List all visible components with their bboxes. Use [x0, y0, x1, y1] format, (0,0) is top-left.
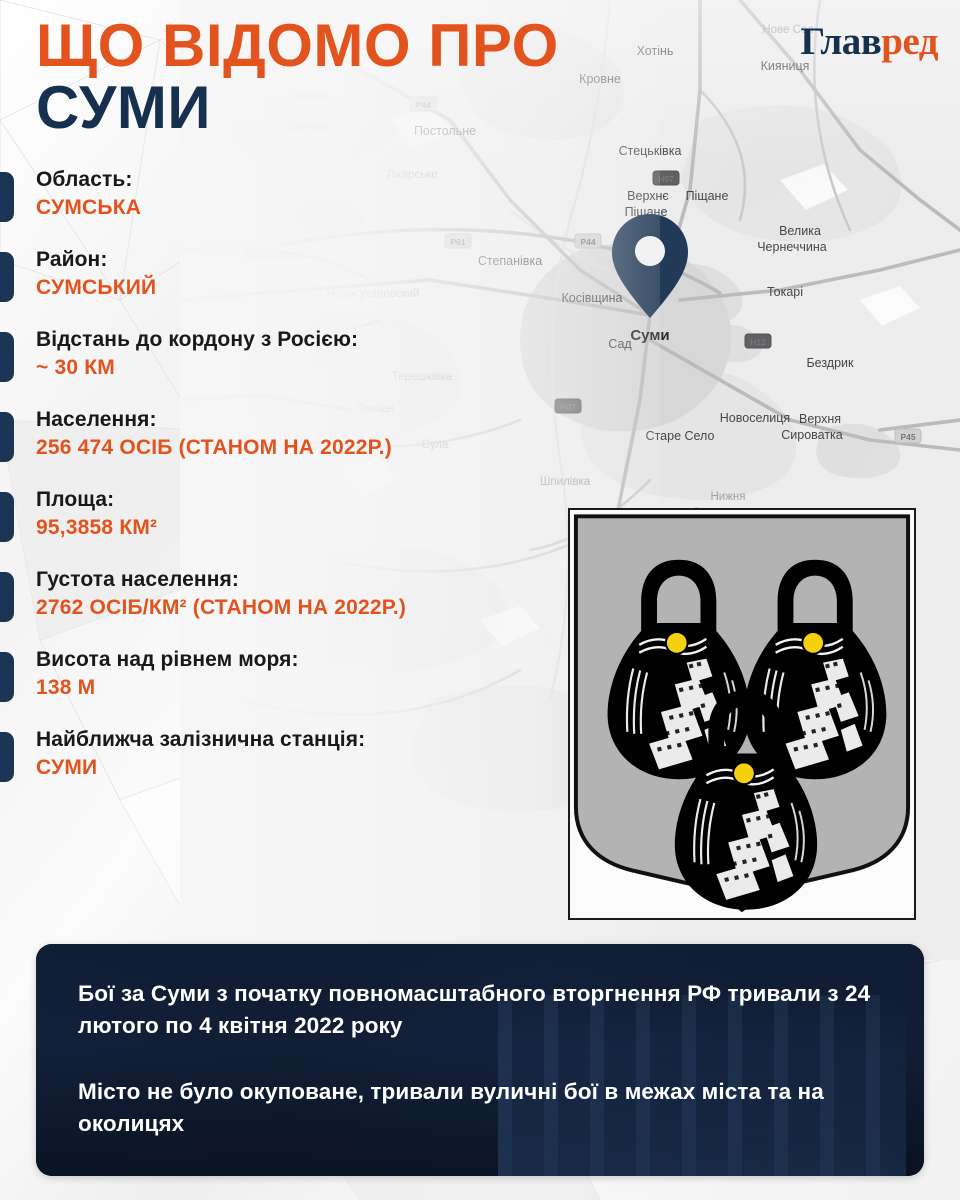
fact-bullet-marker — [0, 172, 14, 222]
map-place-label: Кровне — [579, 72, 621, 86]
svg-text:H07: H07 — [658, 174, 674, 184]
fact-item: Область:СУМСЬКА — [0, 168, 560, 226]
fact-label: Густота населення: — [36, 568, 560, 593]
map-place-label: Велика — [779, 224, 821, 238]
fact-item: Густота населення:2762 ОСІБ/КМ² (СТАНОМ … — [0, 568, 560, 626]
fact-item: Площа:95,3858 КМ² — [0, 488, 560, 546]
svg-text:P45: P45 — [900, 432, 915, 442]
fact-value: 138 М — [36, 675, 560, 700]
fact-bullet-marker — [0, 652, 14, 702]
page-title: ЩО ВІДОМО ПРО СУМИ — [36, 18, 559, 136]
infographic-poster: P44 P44 P61 H07 H07 — [0, 0, 960, 1200]
fact-value: 256 474 ОСІБ (СТАНОМ НА 2022Р.) — [36, 435, 560, 460]
fact-bullet-marker — [0, 492, 14, 542]
facts-list: Область:СУМСЬКАРайон:СУМСЬКИЙВідстань до… — [0, 168, 560, 808]
panel-paragraph-one: Бої за Суми з початку повномасштабного в… — [78, 978, 884, 1042]
fact-bullet-marker — [0, 732, 14, 782]
svg-text:H07: H07 — [560, 402, 576, 412]
fact-label: Найближча залізнична станція: — [36, 728, 560, 753]
coat-of-arms-svg — [570, 510, 914, 918]
map-place-label: Старе Село — [646, 429, 715, 443]
map-place-label: Хотінь — [637, 44, 674, 58]
fact-bullet-marker — [0, 412, 14, 462]
summary-panel: Бої за Суми з початку повномасштабного в… — [36, 944, 924, 1176]
svg-text:H12: H12 — [750, 337, 766, 347]
title-line-two: СУМИ — [36, 80, 559, 136]
fact-value: ~ 30 КМ — [36, 355, 560, 380]
fact-bullet-marker — [0, 252, 14, 302]
map-place-label: Чернеччина — [757, 240, 827, 254]
svg-text:P44: P44 — [580, 237, 595, 247]
glavred-logo[interactable]: Главред — [800, 22, 938, 61]
map-place-label: Верхнє — [627, 189, 669, 203]
panel-paragraph-two: Місто не було окуповане, тривали вуличні… — [78, 1076, 884, 1140]
fact-label: Відстань до кордону з Росією: — [36, 328, 560, 353]
coat-of-arms-sumy — [568, 508, 916, 920]
map-city-label-sumy: Суми — [630, 327, 669, 344]
fact-label: Висота над рівнем моря: — [36, 648, 560, 673]
fact-value: СУМСЬКА — [36, 195, 560, 220]
fact-item: Населення:256 474 ОСІБ (СТАНОМ НА 2022Р.… — [0, 408, 560, 466]
panel-text: Бої за Суми з початку повномасштабного в… — [36, 944, 924, 1140]
map-place-label: Стецьківка — [619, 144, 682, 158]
map-place-label: Сад — [608, 337, 632, 351]
fact-value: СУМИ — [36, 755, 560, 780]
fact-item: Висота над рівнем моря:138 М — [0, 648, 560, 706]
map-place-label: Піщане — [686, 189, 729, 203]
map-place-label: Сироватка — [781, 428, 843, 442]
fact-value: 2762 ОСІБ/КМ² (СТАНОМ НА 2022Р.) — [36, 595, 560, 620]
logo-part-one: Глав — [800, 20, 881, 63]
fact-label: Населення: — [36, 408, 560, 433]
map-place-label: Верхня — [799, 412, 841, 426]
fact-bullet-marker — [0, 332, 14, 382]
fact-value: СУМСЬКИЙ — [36, 275, 560, 300]
fact-label: Площа: — [36, 488, 560, 513]
title-line-one: ЩО ВІДОМО ПРО — [36, 18, 559, 74]
map-place-label: Бездрик — [806, 356, 854, 370]
map-place-label: Косівщина — [561, 291, 622, 305]
fact-item: Відстань до кордону з Росією:~ 30 КМ — [0, 328, 560, 386]
fact-label: Район: — [36, 248, 560, 273]
fact-item: Район:СУМСЬКИЙ — [0, 248, 560, 306]
logo-part-two: ред — [881, 20, 938, 63]
fact-item: Найближча залізнична станція:СУМИ — [0, 728, 560, 786]
fact-label: Область: — [36, 168, 560, 193]
fact-value: 95,3858 КМ² — [36, 515, 560, 540]
map-place-label: Нижня — [711, 491, 746, 503]
map-place-label: Новоселиця — [720, 411, 790, 425]
map-place-label: Токарі — [767, 285, 803, 299]
fact-bullet-marker — [0, 572, 14, 622]
